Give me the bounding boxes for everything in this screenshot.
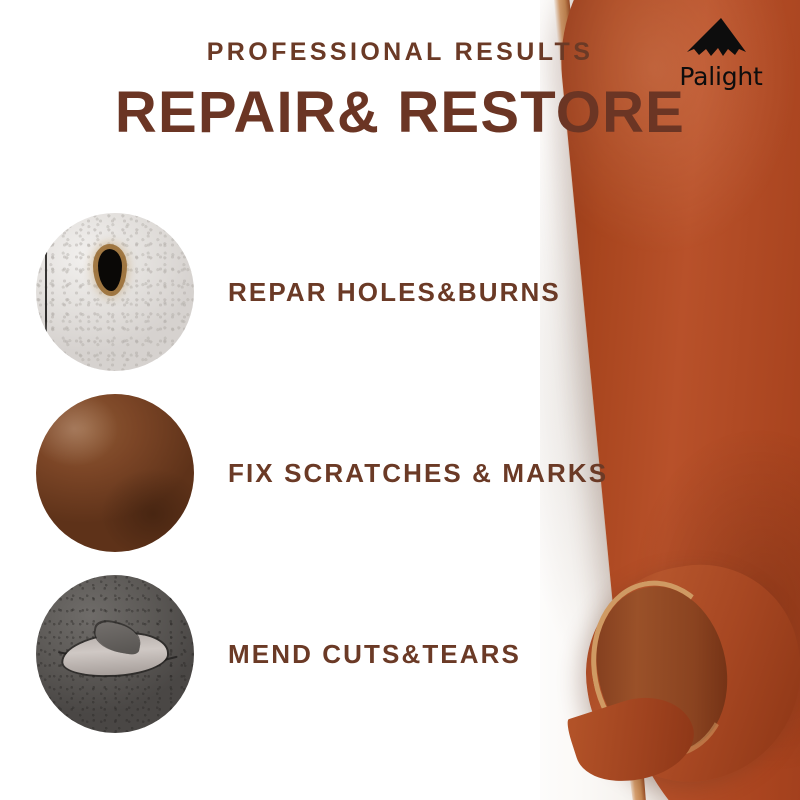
feature-label: FIX SCRATCHES & MARKS (228, 458, 608, 489)
brand-logo: Palight (662, 18, 780, 89)
list-item: MEND CUTS&TEARS (36, 574, 636, 734)
list-item: REPAR HOLES&BURNS (36, 212, 636, 372)
brown-leather-scratches-swatch (36, 394, 194, 552)
burn-hole-damage (98, 249, 122, 291)
feature-label: MEND CUTS&TEARS (228, 639, 521, 670)
white-leather-burn-hole-swatch (36, 213, 194, 371)
feature-list: REPAR HOLES&BURNS FIX SCRATCHES & MARKS … (36, 212, 636, 734)
feature-label: REPAR HOLES&BURNS (228, 277, 561, 308)
grey-leather-tear-swatch (36, 575, 194, 733)
list-item: FIX SCRATCHES & MARKS (36, 393, 636, 553)
brand-name: Palight (662, 64, 780, 89)
mountain-peak-icon (678, 18, 764, 68)
poster-canvas: Palight PROFESSIONAL RESULTS REPAIR& RES… (0, 0, 800, 800)
leather-seam (45, 222, 47, 361)
